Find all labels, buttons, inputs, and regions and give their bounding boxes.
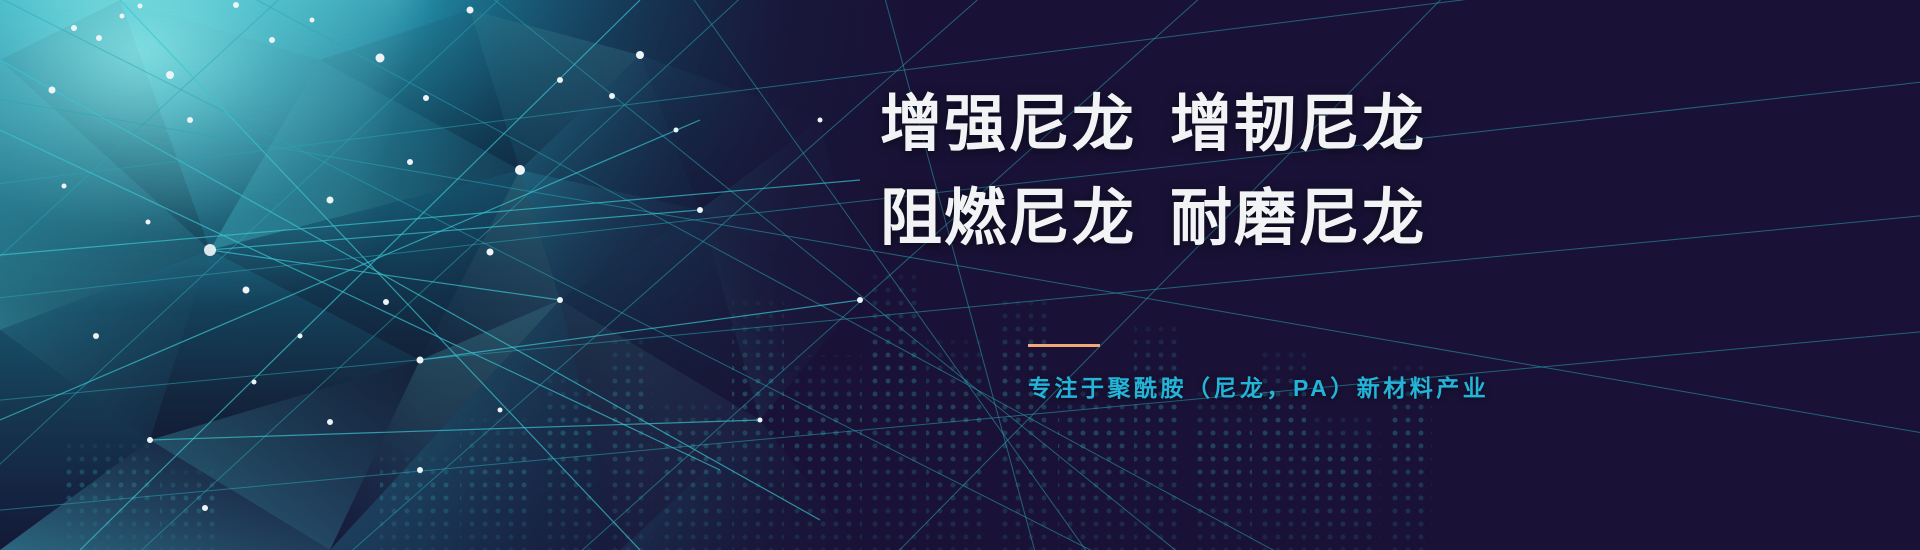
subtitle-text: 专注于聚酰胺（尼龙，PA）新材料产业: [1028, 369, 1500, 403]
headline-line2-part2: 耐磨尼龙: [1170, 184, 1426, 253]
headline-line-2: 阻燃尼龙耐磨尼龙: [880, 172, 1500, 266]
hero-copy: 增强尼龙增韧尼龙 阻燃尼龙耐磨尼龙 专注于聚酰胺（尼龙，PA）新材料产业: [880, 78, 1500, 403]
orange-divider-rule: [1028, 344, 1100, 347]
headline-line-1: 增强尼龙增韧尼龙: [880, 78, 1500, 172]
headline-line1-part1: 增强尼龙: [880, 90, 1136, 159]
headline-line1-part2: 增韧尼龙: [1170, 90, 1426, 159]
hero-banner: 增强尼龙增韧尼龙 阻燃尼龙耐磨尼龙 专注于聚酰胺（尼龙，PA）新材料产业: [0, 0, 1920, 550]
headline-line2-part1: 阻燃尼龙: [880, 184, 1136, 253]
subtitle-block: 专注于聚酰胺（尼龙，PA）新材料产业: [880, 344, 1500, 403]
